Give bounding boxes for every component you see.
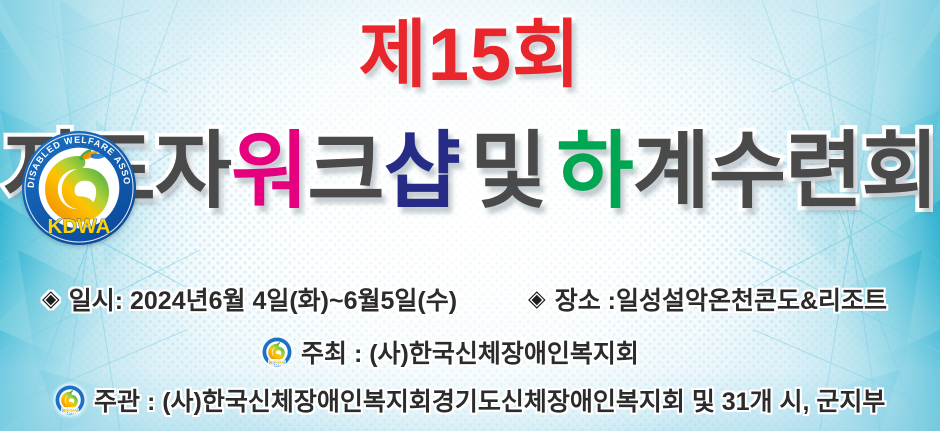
info-row-date: ◈ 일시: 2024년6월 4일(화)~6월5일(수) — [42, 281, 457, 317]
info-row-host: KDWA 주최 : (사)한국신체장애인복지회 — [262, 334, 639, 370]
kdwa-logo: KOREA DISABLED WELFARE ASSOCIATION KDWA — [20, 129, 138, 247]
title-segment-mit: 및 — [460, 124, 556, 218]
info-row-organizer: KDWA 주관 : (사)한국신체장애인복지회경기도신체장애인복지회 및 31개… — [55, 382, 885, 418]
kdwa-badge-icon: KDWA — [262, 337, 292, 367]
info-host-text: 주최 : (사)한국신체장애인복지회 — [301, 334, 639, 370]
diamond-bullet-icon: ◈ — [42, 287, 60, 310]
info-host-label: 주최 : — [301, 340, 362, 368]
info-organizer-label: 주관 : — [94, 388, 155, 416]
diamond-bullet-icon: ◈ — [528, 287, 546, 310]
serial-title: 제15회 — [0, 18, 940, 92]
info-row-place: ◈ 장소 :일성설악온천콘도&리조트 — [528, 281, 887, 317]
info-date-text: 일시: 2024년6월 4일(화)~6월5일(수) — [69, 281, 457, 317]
info-organizer-value: (사)한국신체장애인복지회경기도신체장애인복지회 및 31개 시, 군지부 — [162, 388, 885, 416]
svg-text:KDWA: KDWA — [63, 408, 78, 414]
title-segment-gyesuryeonhoe: 계수련회 — [633, 124, 938, 218]
logo-acronym: KDWA — [47, 215, 110, 238]
info-date-value: 2024년6월 4일(화)~6월5일(수) — [130, 287, 457, 315]
title-segment-shop: 샵 — [384, 124, 460, 218]
info-place-value: 일성설악온천콘도&리조트 — [616, 287, 887, 315]
svg-text:KDWA: KDWA — [270, 360, 285, 366]
info-date-label: 일시: — [69, 287, 123, 315]
info-place-text: 장소 :일성설악온천콘도&리조트 — [555, 281, 887, 317]
title-segment-keu: 크 — [307, 124, 383, 218]
event-banner: KOREA DISABLED WELFARE ASSOCIATION KDWA … — [0, 0, 940, 431]
info-place-label: 장소 : — [555, 287, 616, 315]
main-title: 지도자워크샵및하계수련회 — [0, 128, 940, 215]
title-segment-ha: 하 — [556, 124, 632, 218]
info-organizer-text: 주관 : (사)한국신체장애인복지회경기도신체장애인복지회 및 31개 시, 군… — [94, 382, 885, 418]
info-host-value: (사)한국신체장애인복지회 — [369, 340, 639, 368]
kdwa-badge-icon: KDWA — [55, 385, 85, 415]
title-segment-wo: 워 — [231, 124, 307, 218]
